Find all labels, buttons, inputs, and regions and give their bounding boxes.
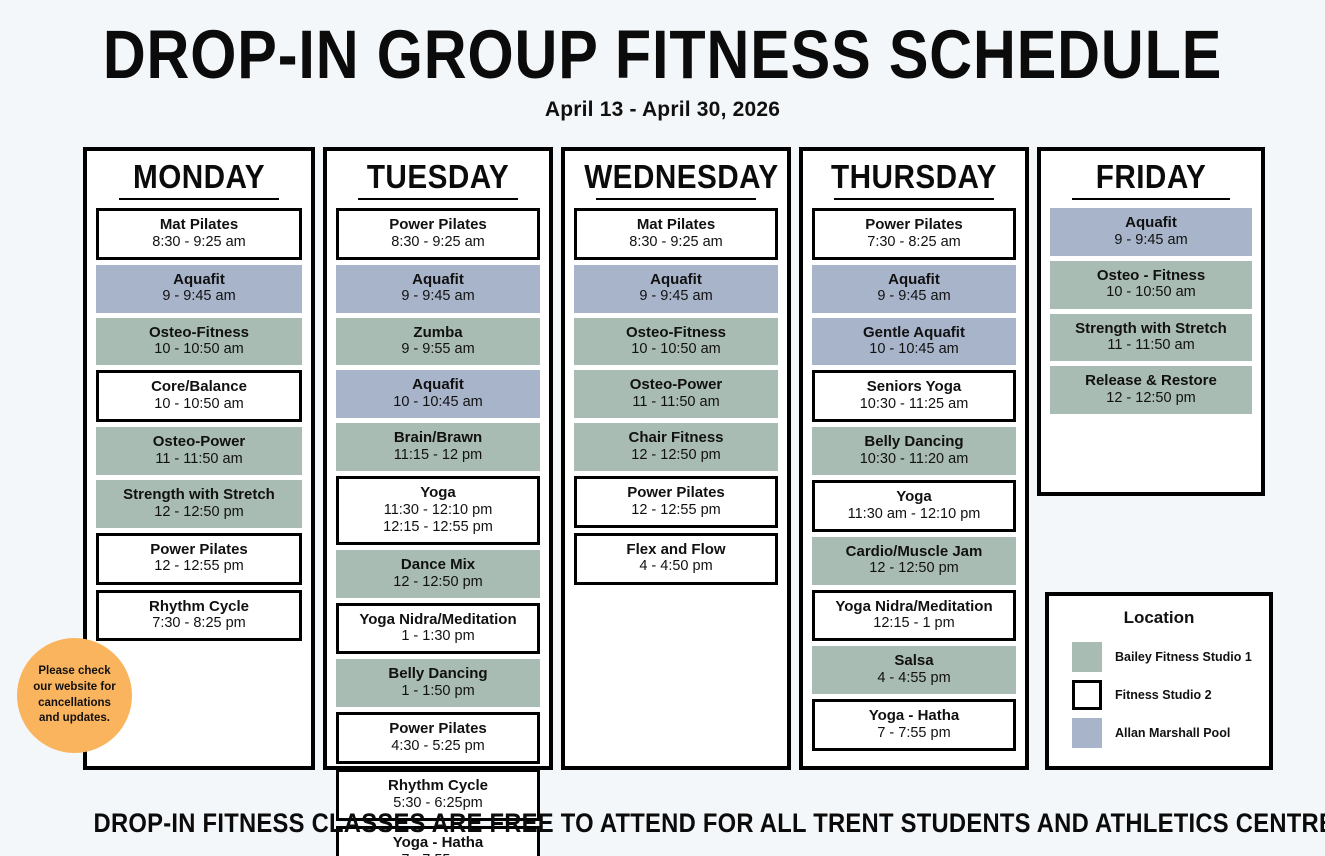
class-block[interactable]: Yoga Nidra/Meditation1 - 1:30 pm (336, 603, 540, 655)
class-block[interactable]: Core/Balance10 - 10:50 am (96, 370, 302, 422)
class-block[interactable]: Osteo-Power11 - 11:50 am (574, 370, 778, 418)
day-heading: MONDAY (106, 159, 291, 196)
class-block[interactable]: Belly Dancing1 - 1:50 pm (336, 659, 540, 707)
class-time: 12 - 12:50 pm (339, 574, 537, 591)
class-time: 7 - 7:55 pm (342, 852, 534, 856)
class-time: 10 - 10:50 am (99, 341, 299, 358)
class-time: 8:30 - 9:25 am (102, 234, 296, 251)
class-block[interactable]: Mat Pilates8:30 - 9:25 am (574, 208, 778, 260)
class-name: Strength with Stretch (1053, 320, 1249, 338)
class-time: 12 - 12:55 pm (580, 502, 772, 519)
class-name: Rhythm Cycle (342, 777, 534, 795)
class-name: Aquafit (99, 271, 299, 289)
legend-title: Location (1049, 608, 1269, 628)
class-name: Zumba (339, 324, 537, 342)
footer-banner: DROP-IN FITNESS CLASSES ARE FREE TO ATTE… (0, 808, 1325, 839)
date-range: April 13 - April 30, 2026 (0, 98, 1325, 122)
class-time: 11:30 - 12:10 pm (342, 502, 534, 519)
class-block[interactable]: Dance Mix12 - 12:50 pm (336, 550, 540, 598)
day-column-wednesday: WEDNESDAYMat Pilates8:30 - 9:25 amAquafi… (561, 147, 791, 770)
class-name: Osteo-Fitness (99, 324, 299, 342)
legend-swatch-icon (1072, 680, 1102, 710)
day-heading-rule (1072, 198, 1230, 200)
day-heading: WEDNESDAY (584, 159, 768, 196)
class-name: Chair Fitness (577, 429, 775, 447)
class-time: 12 - 12:50 pm (1053, 390, 1249, 407)
class-name: Salsa (815, 652, 1013, 670)
class-time: 10:30 - 11:20 am (815, 451, 1013, 468)
day-column-friday: FRIDAYAquafit9 - 9:45 amOsteo - Fitness1… (1037, 147, 1265, 496)
class-block[interactable]: Flex and Flow4 - 4:50 pm (574, 533, 778, 585)
legend-item: Allan Marshall Pool (1049, 714, 1269, 752)
class-name: Cardio/Muscle Jam (815, 543, 1013, 561)
class-block[interactable]: Aquafit9 - 9:45 am (574, 265, 778, 313)
class-time: 9 - 9:45 am (815, 288, 1013, 305)
day-heading: FRIDAY (1060, 159, 1242, 196)
legend-swatch-icon (1072, 718, 1102, 748)
class-name: Osteo - Fitness (1053, 267, 1249, 285)
class-time: 9 - 9:45 am (99, 288, 299, 305)
class-name: Mat Pilates (102, 216, 296, 234)
class-name: Power Pilates (818, 216, 1010, 234)
class-name: Gentle Aquafit (815, 324, 1013, 342)
class-block[interactable]: Yoga11:30 am - 12:10 pm (812, 480, 1016, 532)
class-name: Power Pilates (342, 216, 534, 234)
class-time: 11 - 11:50 am (99, 451, 299, 468)
class-time: 10 - 10:50 am (102, 396, 296, 413)
day-heading: THURSDAY (822, 159, 1006, 196)
class-block[interactable]: Strength with Stretch11 - 11:50 am (1050, 314, 1252, 362)
class-block[interactable]: Gentle Aquafit10 - 10:45 am (812, 318, 1016, 366)
class-block[interactable]: Power Pilates12 - 12:55 pm (574, 476, 778, 528)
day-column-thursday: THURSDAYPower Pilates7:30 - 8:25 amAquaf… (799, 147, 1029, 770)
class-list: Mat Pilates8:30 - 9:25 amAquafit9 - 9:45… (574, 208, 778, 585)
class-name: Aquafit (815, 271, 1013, 289)
class-time: 7:30 - 8:25 am (818, 234, 1010, 251)
day-heading-rule (834, 198, 993, 200)
class-time: 11:15 - 12 pm (339, 447, 537, 464)
class-time: 11 - 11:50 am (577, 394, 775, 411)
schedule-poster: DROP-IN GROUP FITNESS SCHEDULE April 13 … (0, 0, 1325, 856)
class-name: Power Pilates (342, 720, 534, 738)
class-time: 10 - 10:50 am (577, 341, 775, 358)
class-name: Aquafit (339, 271, 537, 289)
class-block[interactable]: Osteo - Fitness10 - 10:50 am (1050, 261, 1252, 309)
legend-box: Location Bailey Fitness Studio 1Fitness … (1045, 592, 1273, 770)
class-block[interactable]: Release & Restore12 - 12:50 pm (1050, 366, 1252, 414)
class-list: Power Pilates8:30 - 9:25 amAquafit9 - 9:… (336, 208, 540, 856)
class-name: Yoga - Hatha (818, 707, 1010, 725)
day-heading: TUESDAY (346, 159, 530, 196)
class-time: 10:30 - 11:25 am (818, 396, 1010, 413)
legend-label: Bailey Fitness Studio 1 (1115, 650, 1252, 664)
class-time: 8:30 - 9:25 am (342, 234, 534, 251)
notice-badge: Please check our website for cancellatio… (17, 638, 132, 753)
legend-swatch-icon (1072, 642, 1102, 672)
class-block[interactable]: Aquafit10 - 10:45 am (336, 370, 540, 418)
class-name: Power Pilates (102, 541, 296, 559)
class-block[interactable]: Mat Pilates8:30 - 9:25 am (96, 208, 302, 260)
class-name: Osteo-Power (577, 376, 775, 394)
class-time: 8:30 - 9:25 am (580, 234, 772, 251)
class-time: 9 - 9:45 am (577, 288, 775, 305)
page-title: DROP-IN GROUP FITNESS SCHEDULE (93, 22, 1233, 88)
legend-rows: Bailey Fitness Studio 1Fitness Studio 2A… (1049, 638, 1269, 752)
class-name: Rhythm Cycle (102, 598, 296, 616)
class-block[interactable]: Strength with Stretch12 - 12:50 pm (96, 480, 302, 528)
class-block[interactable]: Power Pilates8:30 - 9:25 am (336, 208, 540, 260)
class-block[interactable]: Salsa4 - 4:55 pm (812, 646, 1016, 694)
class-name: Osteo-Power (99, 433, 299, 451)
class-name: Dance Mix (339, 556, 537, 574)
footer-text: DROP-IN FITNESS CLASSES ARE FREE TO ATTE… (94, 808, 1325, 839)
legend-label: Allan Marshall Pool (1115, 726, 1230, 740)
class-block[interactable]: Aquafit9 - 9:45 am (96, 265, 302, 313)
legend-item: Bailey Fitness Studio 1 (1049, 638, 1269, 676)
class-block[interactable]: Zumba9 - 9:55 am (336, 318, 540, 366)
class-list: Aquafit9 - 9:45 amOsteo - Fitness10 - 10… (1050, 208, 1252, 414)
class-block[interactable]: Yoga - Hatha7 - 7:55 pm (812, 699, 1016, 751)
notice-text: Please check our website for cancellatio… (17, 664, 132, 726)
class-name: Aquafit (577, 271, 775, 289)
class-time: 12 - 12:50 pm (577, 447, 775, 464)
class-time: 4 - 4:50 pm (580, 558, 772, 575)
class-time: 9 - 9:55 am (339, 341, 537, 358)
poster-header: DROP-IN GROUP FITNESS SCHEDULE April 13 … (0, 0, 1325, 122)
class-time: 1 - 1:30 pm (342, 628, 534, 645)
class-time: 4:30 - 5:25 pm (342, 738, 534, 755)
class-block[interactable]: Cardio/Muscle Jam12 - 12:50 pm (812, 537, 1016, 585)
legend-item: Fitness Studio 2 (1049, 676, 1269, 714)
class-block[interactable]: Power Pilates12 - 12:55 pm (96, 533, 302, 585)
class-block[interactable]: Aquafit9 - 9:45 am (812, 265, 1016, 313)
class-time: 9 - 9:45 am (1053, 232, 1249, 249)
class-name: Aquafit (1053, 214, 1249, 232)
class-name: Brain/Brawn (339, 429, 537, 447)
class-block[interactable]: Osteo-Fitness10 - 10:50 am (574, 318, 778, 366)
class-name: Yoga Nidra/Meditation (818, 598, 1010, 616)
day-column-tuesday: TUESDAYPower Pilates8:30 - 9:25 amAquafi… (323, 147, 553, 770)
class-block[interactable]: Brain/Brawn11:15 - 12 pm (336, 423, 540, 471)
class-block[interactable]: Rhythm Cycle7:30 - 8:25 pm (96, 590, 302, 642)
class-name: Belly Dancing (815, 433, 1013, 451)
class-block[interactable]: Osteo-Power11 - 11:50 am (96, 427, 302, 475)
class-time: 12:15 - 1 pm (818, 615, 1010, 632)
day-heading-rule (119, 198, 280, 200)
class-name: Yoga (818, 488, 1010, 506)
class-time: 12 - 12:50 pm (99, 504, 299, 521)
class-time: 10 - 10:45 am (339, 394, 537, 411)
class-name: Seniors Yoga (818, 378, 1010, 396)
class-block[interactable]: Seniors Yoga10:30 - 11:25 am (812, 370, 1016, 422)
legend-label: Fitness Studio 2 (1115, 688, 1212, 702)
class-name: Release & Restore (1053, 372, 1249, 390)
class-time: 9 - 9:45 am (339, 288, 537, 305)
class-time: 7:30 - 8:25 pm (102, 615, 296, 632)
class-name: Core/Balance (102, 378, 296, 396)
class-time: 7 - 7:55 pm (818, 725, 1010, 742)
class-block[interactable]: Chair Fitness12 - 12:50 pm (574, 423, 778, 471)
class-name: Aquafit (339, 376, 537, 394)
class-time: 12 - 12:55 pm (102, 558, 296, 575)
class-time: 10 - 10:50 am (1053, 284, 1249, 301)
class-name: Osteo-Fitness (577, 324, 775, 342)
class-list: Mat Pilates8:30 - 9:25 amAquafit9 - 9:45… (96, 208, 302, 641)
class-block[interactable]: Power Pilates4:30 - 5:25 pm (336, 712, 540, 764)
class-name: Strength with Stretch (99, 486, 299, 504)
class-name: Yoga (342, 484, 534, 502)
class-time-secondary: 12:15 - 12:55 pm (342, 519, 534, 536)
class-block[interactable]: Yoga11:30 - 12:10 pm12:15 - 12:55 pm (336, 476, 540, 545)
class-block[interactable]: Aquafit9 - 9:45 am (336, 265, 540, 313)
class-time: 1 - 1:50 pm (339, 683, 537, 700)
class-name: Flex and Flow (580, 541, 772, 559)
class-time: 12 - 12:50 pm (815, 560, 1013, 577)
class-list: Power Pilates7:30 - 8:25 amAquafit9 - 9:… (812, 208, 1016, 751)
class-block[interactable]: Aquafit9 - 9:45 am (1050, 208, 1252, 256)
class-time: 10 - 10:45 am (815, 341, 1013, 358)
class-name: Power Pilates (580, 484, 772, 502)
day-heading-rule (596, 198, 755, 200)
class-block[interactable]: Belly Dancing10:30 - 11:20 am (812, 427, 1016, 475)
class-block[interactable]: Osteo-Fitness10 - 10:50 am (96, 318, 302, 366)
class-name: Mat Pilates (580, 216, 772, 234)
class-name: Belly Dancing (339, 665, 537, 683)
class-name: Yoga Nidra/Meditation (342, 611, 534, 629)
class-block[interactable]: Yoga Nidra/Meditation12:15 - 1 pm (812, 590, 1016, 642)
class-time: 11 - 11:50 am (1053, 337, 1249, 354)
class-time: 4 - 4:55 pm (815, 670, 1013, 687)
class-block[interactable]: Power Pilates7:30 - 8:25 am (812, 208, 1016, 260)
day-heading-rule (358, 198, 517, 200)
class-time: 11:30 am - 12:10 pm (818, 506, 1010, 523)
